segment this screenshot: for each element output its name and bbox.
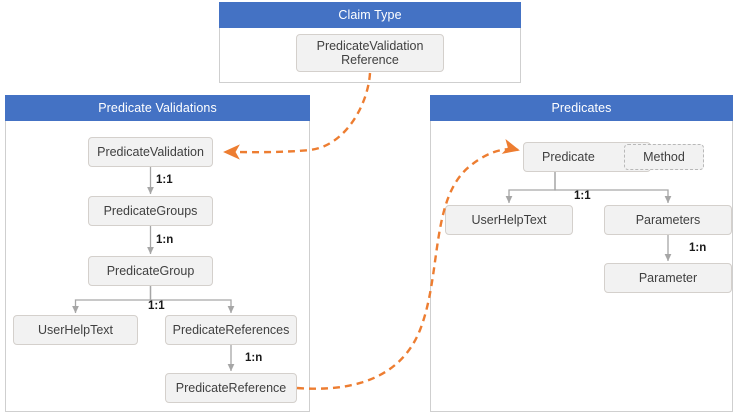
cardinality-predicatereferences-to-predicatereference: 1:n <box>245 352 262 364</box>
box-predicatereferences[interactable]: PredicateReferences <box>165 315 297 345</box>
box-label: PredicateReference <box>176 381 286 395</box>
box-label: UserHelpText <box>471 213 546 227</box>
cardinality-parameters-to-parameter: 1:n <box>689 242 706 254</box>
box-predicate-validation-reference[interactable]: PredicateValidation Reference <box>296 34 444 72</box>
box-label: PredicateReferences <box>173 323 290 337</box>
cardinality-predicategroup-to-children: 1:1 <box>148 300 165 312</box>
box-method[interactable]: Method <box>624 144 704 170</box>
box-predicatevalidation[interactable]: PredicateValidation <box>88 137 213 167</box>
box-label: PredicateGroup <box>107 264 195 278</box>
box-label: UserHelpText <box>38 323 113 337</box>
diagram-canvas: Claim Type PredicateValidation Reference… <box>0 0 739 416</box>
box-predicategroups[interactable]: PredicateGroups <box>88 196 213 226</box>
box-label-line1: PredicateValidation <box>317 39 424 53</box>
box-predicatereference[interactable]: PredicateReference <box>165 373 297 403</box>
box-parameter[interactable]: Parameter <box>604 263 732 293</box>
box-predicategroup[interactable]: PredicateGroup <box>88 256 213 286</box>
cardinality-predicategroups-to-predicategroup: 1:n <box>156 234 173 246</box>
cardinality-predicate-to-children: 1:1 <box>574 190 591 202</box>
box-label: Method <box>643 150 685 164</box>
box-label: Parameters <box>636 213 701 227</box>
box-userhelptext-right[interactable]: UserHelpText <box>445 205 573 235</box>
box-label: Predicate <box>542 150 595 164</box>
box-label: Parameter <box>639 271 697 285</box>
box-label: PredicateValidation <box>97 145 204 159</box>
box-userhelptext-left[interactable]: UserHelpText <box>13 315 138 345</box>
box-parameters[interactable]: Parameters <box>604 205 732 235</box>
box-label: PredicateGroups <box>104 204 198 218</box>
cardinality-pv-to-predicategroups: 1:1 <box>156 174 173 186</box>
box-label-line2: Reference <box>341 53 399 67</box>
